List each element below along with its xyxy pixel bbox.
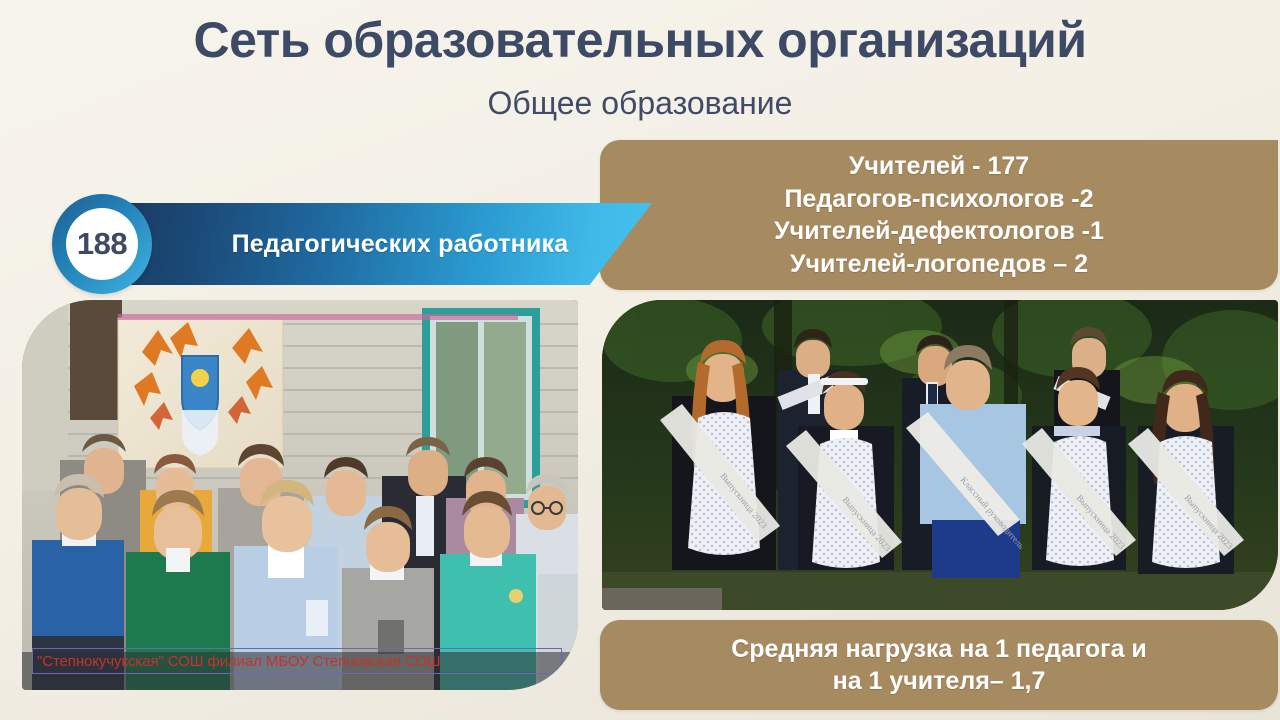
photo-teaching-staff-image bbox=[22, 300, 578, 690]
slide-root: Сеть образовательных организаций Общее о… bbox=[0, 0, 1280, 720]
staff-breakdown-line-teachers: Учителей - 177 bbox=[849, 150, 1029, 183]
staff-breakdown-line-speech-therapists: Учителей-логопедов – 2 bbox=[790, 248, 1088, 281]
photo-graduates-image: Выпускница 2023 Выпускница 2023 bbox=[602, 300, 1278, 610]
staff-breakdown-line-psychologists: Педагогов-психологов -2 bbox=[784, 183, 1093, 216]
photo-graduates: Выпускница 2023 Выпускница 2023 bbox=[602, 300, 1278, 610]
page-subtitle: Общее образование bbox=[0, 86, 1280, 121]
workload-box: Средняя нагрузка на 1 педагога и на 1 уч… bbox=[600, 620, 1278, 710]
staff-banner-label: Педагогических работника bbox=[200, 203, 600, 285]
photo-left-caption: "Степнокучукская" СОШ филиал МБОУ Степно… bbox=[32, 648, 562, 674]
staff-breakdown-line-defectologists: Учителей-дефектологов -1 bbox=[774, 215, 1104, 248]
staff-breakdown-box: Учителей - 177 Педагогов-психологов -2 У… bbox=[600, 140, 1278, 290]
staff-count-value: 188 bbox=[66, 208, 138, 280]
staff-count-circle: 188 bbox=[52, 194, 152, 294]
page-title: Сеть образовательных организаций bbox=[0, 14, 1280, 67]
workload-line-1: Средняя нагрузка на 1 педагога и bbox=[731, 633, 1147, 666]
staff-count-banner: Педагогических работника 188 bbox=[52, 194, 652, 294]
workload-line-2: на 1 учителя– 1,7 bbox=[833, 665, 1046, 698]
photo-teaching-staff: "Степнокучукская" СОШ филиал МБОУ Степно… bbox=[22, 300, 578, 690]
